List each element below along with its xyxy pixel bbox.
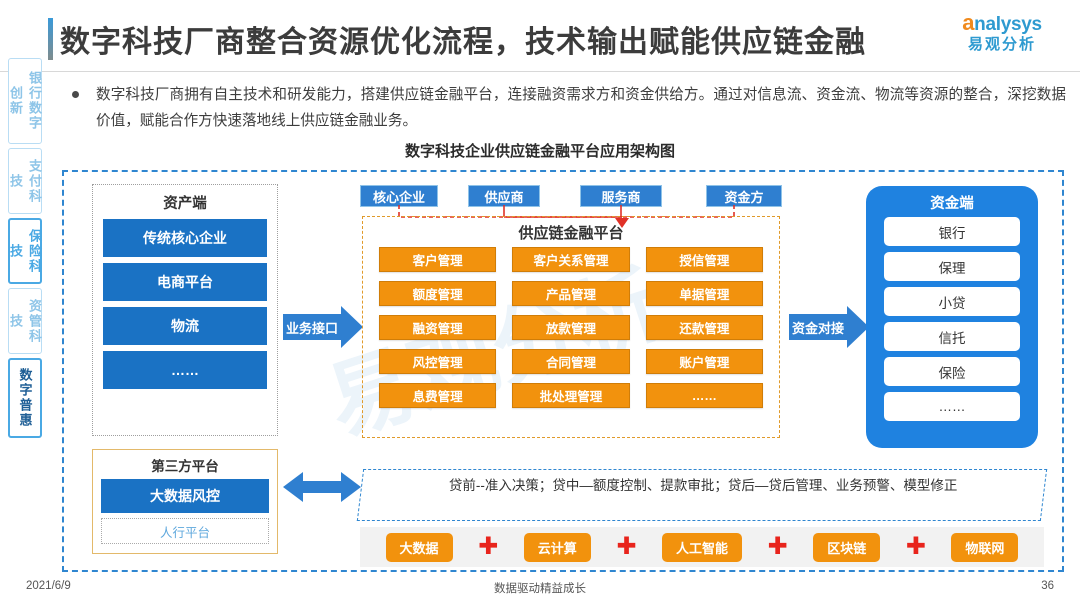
- fund-docking-arrow-label: 资金对接: [789, 314, 847, 340]
- footer-page-number: 36: [1041, 580, 1054, 592]
- module-more[interactable]: ……: [646, 383, 763, 408]
- asset-side-panel: 资产端 传统核心企业 电商平台 物流 ……: [92, 184, 278, 436]
- intro-block: 数字科技厂商拥有自主技术和研发能力，搭建供应链金融平台，连接融资需求方和资金供给…: [66, 82, 1066, 134]
- third-party-title: 第三方平台: [93, 450, 277, 479]
- module-loan-disbursement[interactable]: 放款管理: [512, 315, 629, 340]
- module-contract-management[interactable]: 合同管理: [512, 349, 629, 374]
- loan-lifecycle-text: 贷前--准入决策；贷中—额度控制、提款审批；贷后—贷后管理、业务预警、模型修正: [362, 470, 1044, 502]
- module-document-management[interactable]: 单据管理: [646, 281, 763, 306]
- role-label-supplier[interactable]: 供应商: [468, 185, 540, 207]
- role-label-fund-provider[interactable]: 资金方: [706, 185, 782, 207]
- fund-item-trust[interactable]: 信托: [884, 322, 1020, 351]
- intro-paragraph: 数字科技厂商拥有自主技术和研发能力，搭建供应链金融平台，连接融资需求方和资金供给…: [96, 82, 1066, 134]
- tech-tag-cloud-computing[interactable]: 云计算: [524, 533, 591, 562]
- tech-tag-iot[interactable]: 物联网: [951, 533, 1018, 562]
- third-party-platform-panel: 第三方平台 大数据风控 人行平台: [92, 449, 278, 554]
- analysys-logo: analysys 易观分析: [942, 12, 1062, 62]
- plus-icon-4: ✚: [906, 535, 926, 559]
- module-account-management[interactable]: 账户管理: [646, 349, 763, 374]
- business-interface-arrow-label: 业务接口: [283, 314, 341, 340]
- module-quota-management[interactable]: 额度管理: [379, 281, 496, 306]
- header-divider: [0, 71, 1080, 72]
- module-repayment-management[interactable]: 还款管理: [646, 315, 763, 340]
- fund-item-microloan[interactable]: 小贷: [884, 287, 1020, 316]
- title-accent-bar: [48, 18, 53, 60]
- tech-tag-blockchain[interactable]: 区块链: [813, 533, 880, 562]
- sidebar-item-bank-digital-innovation[interactable]: 银行数字创新: [8, 58, 42, 144]
- module-crm[interactable]: 客户关系管理: [512, 247, 629, 272]
- platform-title: 供应链金融平台: [363, 217, 779, 247]
- sidebar-tabs: 银行数字创新 支付科技 保险科技 资管科技 数字普惠: [8, 58, 44, 442]
- loan-lifecycle-box: 贷前--准入决策；贷中—额度控制、提款审批；贷后—贷后管理、业务预警、模型修正: [357, 469, 1047, 521]
- sidebar-item-digital-inclusive-finance[interactable]: 数字普惠: [8, 358, 42, 438]
- module-batch-processing[interactable]: 批处理管理: [512, 383, 629, 408]
- asset-item-ecommerce-platform[interactable]: 电商平台: [103, 263, 267, 301]
- asset-item-logistics[interactable]: 物流: [103, 307, 267, 345]
- module-risk-control[interactable]: 风控管理: [379, 349, 496, 374]
- third-party-item-pboc-platform[interactable]: 人行平台: [101, 518, 269, 544]
- logo-swirl-icon: a: [962, 10, 974, 35]
- asset-panel-title: 资产端: [93, 185, 277, 219]
- tech-tag-artificial-intelligence[interactable]: 人工智能: [662, 533, 742, 562]
- role-label-service-provider[interactable]: 服务商: [580, 185, 662, 207]
- plus-icon-3: ✚: [768, 535, 788, 559]
- logo-wordmark-text: analysys: [942, 12, 1062, 36]
- fund-docking-arrow-icon: 资金对接: [789, 306, 869, 348]
- plus-icon-2: ✚: [616, 535, 636, 559]
- slide-page: 数字科技厂商整合资源优化流程，技术输出赋能供应链金融 analysys 易观分析…: [0, 0, 1080, 608]
- fund-item-factoring[interactable]: 保理: [884, 252, 1020, 281]
- bidirectional-arrow-icon: [283, 470, 361, 504]
- module-financing-management[interactable]: 融资管理: [379, 315, 496, 340]
- plus-icon-1: ✚: [478, 535, 498, 559]
- bullet-icon: [72, 91, 79, 98]
- fund-side-panel: 资金端 银行 保理 小贷 信托 保险 ……: [866, 186, 1038, 448]
- sidebar-item-asset-management-tech[interactable]: 资管科技: [8, 288, 42, 354]
- technology-tag-band: 大数据 ✚ 云计算 ✚ 人工智能 ✚ 区块链 ✚ 物联网: [360, 527, 1044, 567]
- diagram-caption: 数字科技企业供应链金融平台应用架构图: [0, 140, 1080, 161]
- supply-chain-finance-platform: 供应链金融平台 客户管理 客户关系管理 授信管理 额度管理 产品管理 单据管理 …: [362, 216, 780, 438]
- asset-item-core-enterprise[interactable]: 传统核心企业: [103, 219, 267, 257]
- tech-tag-bigdata[interactable]: 大数据: [386, 533, 453, 562]
- fund-item-insurance[interactable]: 保险: [884, 357, 1020, 386]
- module-customer-management[interactable]: 客户管理: [379, 247, 496, 272]
- module-fee-management[interactable]: 息费管理: [379, 383, 496, 408]
- module-product-management[interactable]: 产品管理: [512, 281, 629, 306]
- fund-item-more[interactable]: ……: [884, 392, 1020, 421]
- business-interface-arrow-icon: 业务接口: [283, 306, 363, 348]
- business-interface-arrow-head: [341, 306, 363, 348]
- fund-item-bank[interactable]: 银行: [884, 217, 1020, 246]
- sidebar-item-insurance-tech[interactable]: 保险科技: [8, 218, 42, 284]
- logo-chinese-text: 易观分析: [942, 36, 1062, 54]
- third-party-item-bigdata-riskcontrol[interactable]: 大数据风控: [101, 479, 269, 513]
- fund-panel-title: 资金端: [866, 186, 1038, 217]
- footer-slogan: 数据驱动精益成长: [0, 580, 1080, 596]
- asset-item-more[interactable]: ……: [103, 351, 267, 389]
- role-label-core-enterprise[interactable]: 核心企业: [360, 185, 438, 207]
- module-credit-granting[interactable]: 授信管理: [646, 247, 763, 272]
- slide-footer: 2021/6/9 数据驱动精益成长 36: [0, 578, 1080, 608]
- slide-header: 数字科技厂商整合资源优化流程，技术输出赋能供应链金融 analysys 易观分析: [0, 0, 1080, 72]
- logo-wordmark-rest: nalysys: [974, 14, 1042, 35]
- platform-module-grid: 客户管理 客户关系管理 授信管理 额度管理 产品管理 单据管理 融资管理 放款管…: [363, 247, 779, 408]
- page-title: 数字科技厂商整合资源优化流程，技术输出赋能供应链金融: [60, 17, 866, 61]
